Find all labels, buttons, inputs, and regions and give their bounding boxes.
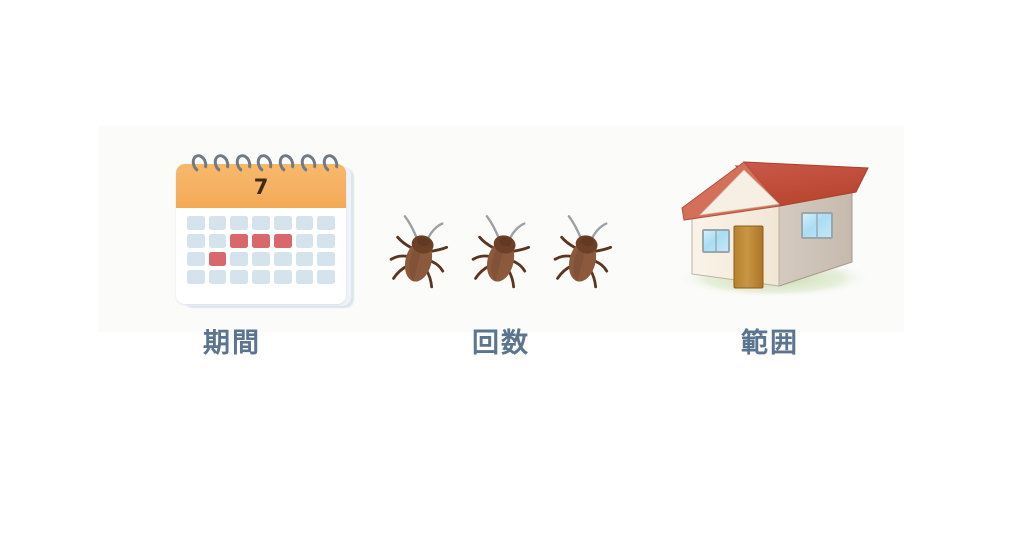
- calendar-cell: [252, 252, 270, 266]
- cockroach-group: [377, 208, 625, 298]
- calendar-ring-icon: [277, 152, 298, 175]
- house-art: [636, 126, 904, 326]
- calendar-cell: [209, 216, 227, 230]
- calendar-cell: [230, 270, 248, 284]
- calendar-cell: [252, 270, 270, 284]
- cockroach-icon: [552, 215, 614, 291]
- calendar-cell: [296, 270, 314, 284]
- calendar-icon: 7: [176, 154, 358, 314]
- calendar-cell: [317, 216, 335, 230]
- calendar-ring-icon: [255, 152, 276, 175]
- calendar-cell: [252, 234, 270, 248]
- concept-column-scope: 範囲: [636, 126, 904, 386]
- calendar-cell: [187, 216, 205, 230]
- calendar-cell: [274, 234, 292, 248]
- concept-column-frequency: 回数: [367, 126, 635, 386]
- calendar-cell: [209, 234, 227, 248]
- cockroach-icon: [470, 215, 532, 291]
- calendar-grid: [187, 216, 335, 284]
- calendar-cell: [317, 234, 335, 248]
- calendar-header-number: 7: [176, 177, 346, 198]
- illustration-stage: 7 期間 回数: [0, 0, 1024, 538]
- cockroach-icon: [388, 215, 450, 291]
- calendar-ring-icon: [233, 152, 254, 175]
- calendar-cell: [187, 234, 205, 248]
- calendar-cell: [274, 252, 292, 266]
- calendar-ring-icon: [189, 152, 210, 175]
- house-door: [734, 226, 763, 288]
- calendar-ring-icon: [211, 152, 232, 175]
- calendar-cell: [187, 270, 205, 284]
- calendar-spiral-rings: [192, 154, 338, 180]
- calendar-cell: [230, 234, 248, 248]
- calendar-cell: [296, 252, 314, 266]
- caption-period: 期間: [203, 330, 261, 357]
- calendar-cell: [274, 270, 292, 284]
- house-icon: [656, 146, 886, 311]
- caption-frequency: 回数: [472, 330, 530, 357]
- calendar-art: 7: [98, 126, 366, 326]
- caption-scope: 範囲: [741, 330, 799, 357]
- calendar-cell: [274, 216, 292, 230]
- concept-columns: 7 期間 回数: [98, 126, 904, 386]
- calendar-cell: [187, 252, 205, 266]
- calendar-cell: [296, 234, 314, 248]
- calendar-cell: [317, 252, 335, 266]
- calendar-ring-icon: [320, 152, 341, 175]
- cockroach-art: [367, 126, 635, 326]
- calendar-cell: [209, 270, 227, 284]
- calendar-body: 7: [176, 164, 346, 304]
- concept-column-period: 7 期間: [98, 126, 366, 386]
- calendar-cell: [317, 270, 335, 284]
- calendar-cell: [296, 216, 314, 230]
- calendar-cell: [230, 252, 248, 266]
- calendar-cell: [252, 216, 270, 230]
- calendar-cell: [209, 252, 227, 266]
- calendar-cell: [230, 216, 248, 230]
- calendar-ring-icon: [298, 152, 319, 175]
